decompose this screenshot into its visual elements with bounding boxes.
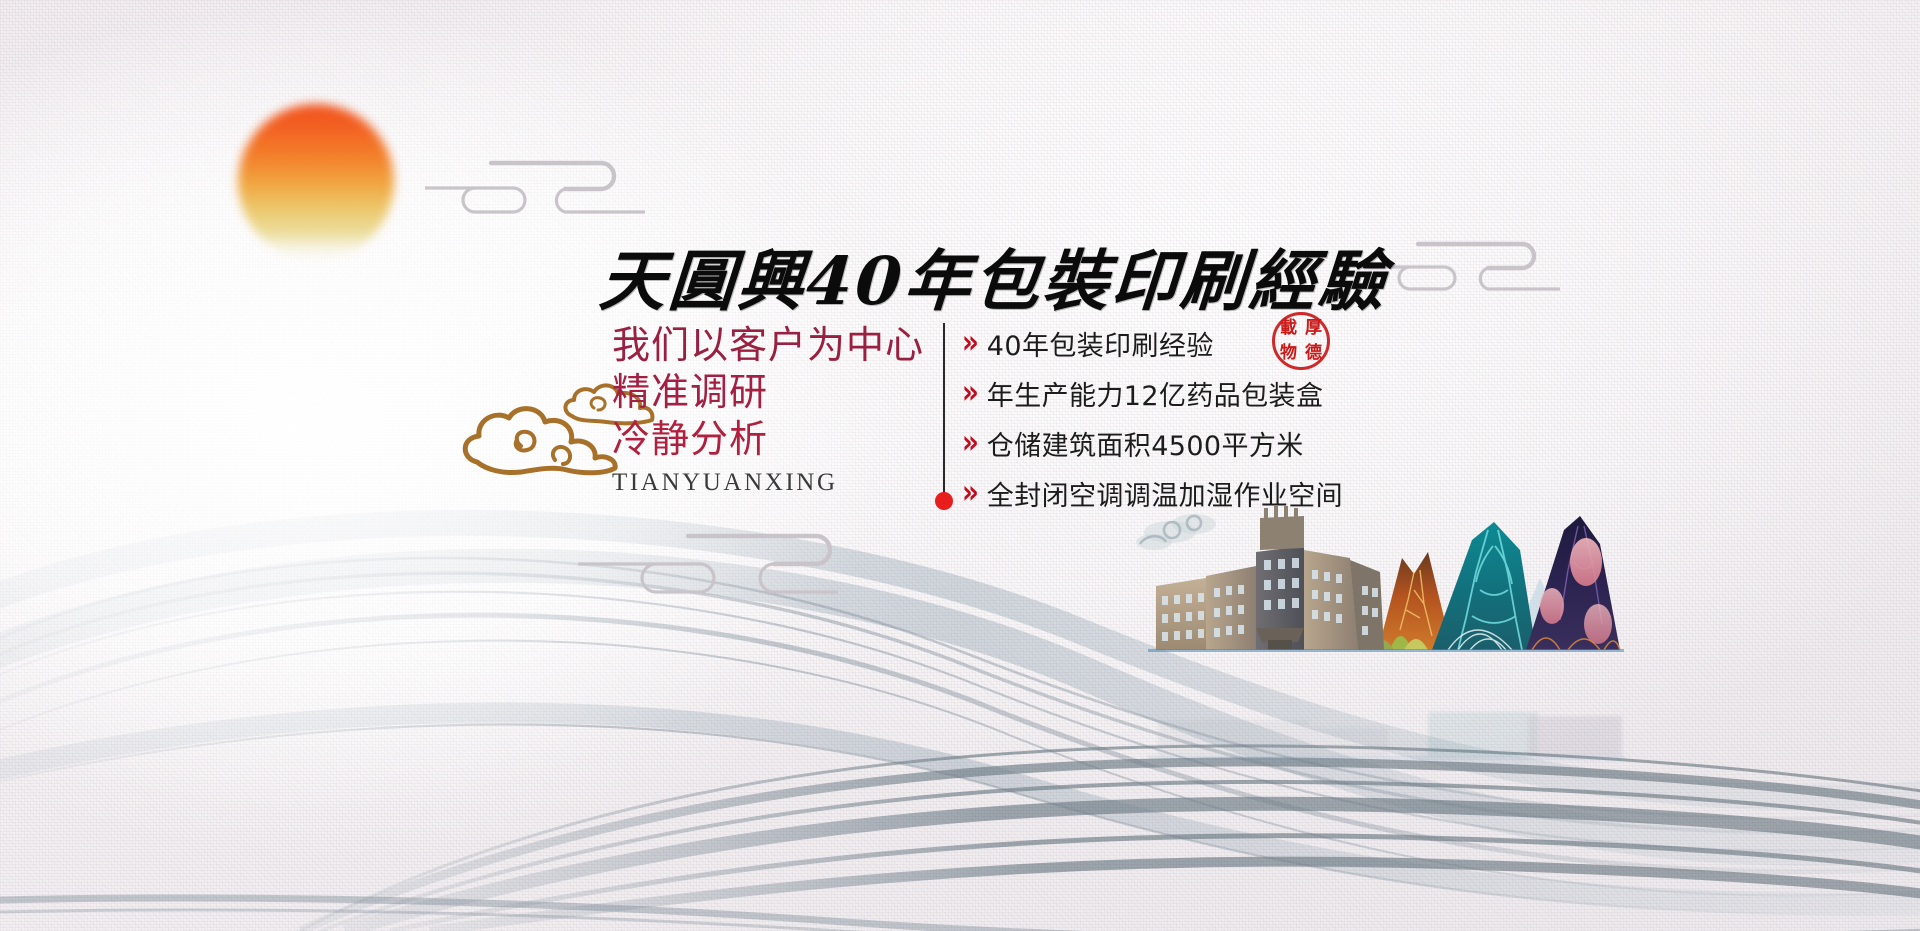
building-and-mountains-illustration	[1128, 500, 1648, 690]
banner-hero: 天圓興40年包裝印刷經驗 我们以客户为中心 精准调研 冷静分析 TIANYUAN…	[0, 0, 1920, 931]
seal-stamp: 載 厚 物 德	[1272, 312, 1330, 370]
scene-cloud-icon	[1136, 514, 1216, 550]
seal-char-bottom-right: 德	[1301, 341, 1326, 366]
list-item: » 年生产能力12亿药品包装盒	[962, 372, 1343, 414]
vertical-divider	[943, 323, 945, 498]
list-item-label: 仓储建筑面积4500平方米	[987, 424, 1304, 463]
list-item: » 仓储建筑面积4500平方米	[962, 422, 1343, 464]
list-item-label: 40年包装印刷经验	[987, 324, 1214, 363]
slogan-line-2: 精准调研	[612, 369, 924, 416]
cloud-line-icon	[425, 150, 645, 216]
chevron-right-icon: »	[962, 427, 979, 460]
cloud-line-icon	[578, 524, 838, 596]
page-title: 天圓興40年包裝印刷經驗	[597, 228, 1392, 324]
seal-glyphs: 載 厚 物 德	[1276, 316, 1326, 366]
seal-char-top-right: 厚	[1301, 316, 1326, 341]
slogan-line-3: 冷静分析	[612, 416, 924, 463]
seal-char-top-left: 載	[1276, 316, 1301, 341]
divider-dot	[935, 492, 953, 510]
chevron-right-icon: »	[962, 327, 979, 360]
list-item-label: 年生产能力12亿药品包装盒	[987, 374, 1324, 413]
chevron-right-icon: »	[962, 477, 979, 510]
sun-icon	[238, 104, 394, 260]
slogan-line-1: 我们以客户为中心	[612, 322, 924, 369]
chevron-right-icon: »	[962, 377, 979, 410]
brand-latin-name: TIANYUANXING	[612, 469, 924, 497]
seal-char-bottom-left: 物	[1276, 341, 1301, 366]
slogan-block: 我们以客户为中心 精准调研 冷静分析 TIANYUANXING	[612, 322, 924, 497]
cloud-line-icon	[1370, 234, 1560, 292]
